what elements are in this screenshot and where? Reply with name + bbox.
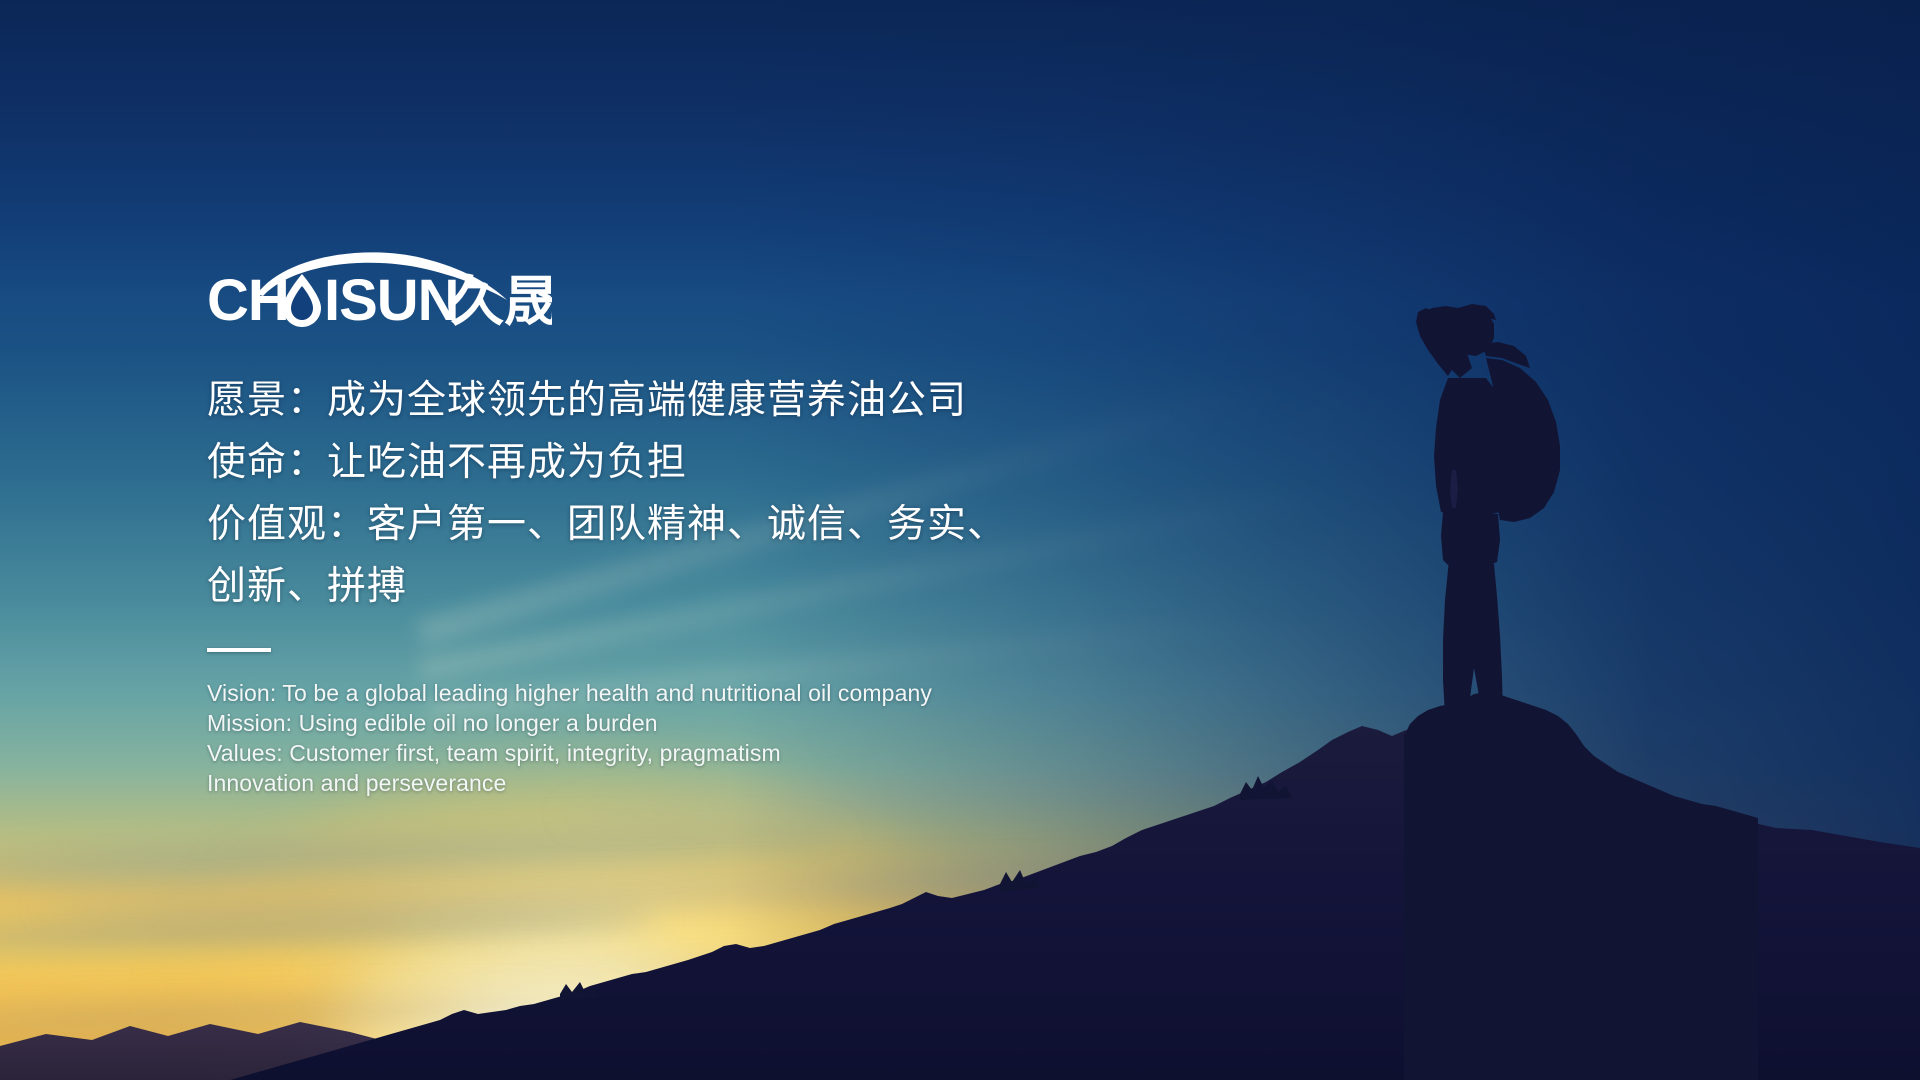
mission-line-zh: 使命：让吃油不再成为负担 [207,432,1207,494]
hiker-torso [1434,378,1506,516]
mission-line-en: Mission: Using edible oil no longer a bu… [207,708,1207,738]
hiker-hips [1441,512,1500,568]
logo-latin-prefix: CH [207,268,289,328]
values-line-en-2: Innovation and perseverance [207,768,1207,798]
vision-line-en: Vision: To be a global leading higher he… [207,678,1207,708]
values-line-zh-1: 价值观：客户第一、团队精神、诚信、务实、 [207,494,1207,556]
slide-canvas: CH ISUN 久晟 愿景：成为全球领先的高端健康营养油公司 使命：让吃油不再成… [0,0,1920,1080]
vision-line-zh: 愿景：成为全球领先的高端健康营养油公司 [207,370,1207,432]
choisun-logo[interactable]: CH ISUN 久晟 [207,248,552,328]
logo-latin-suffix: ISUN [324,268,459,328]
values-line-zh-2: 创新、拼搏 [207,556,1207,618]
logo-cjk: 久晟 [450,272,552,328]
ridge-spikes [560,982,600,1000]
section-divider [207,648,271,652]
statement-block: 愿景：成为全球领先的高端健康营养油公司 使命：让吃油不再成为负担 价值观：客户第… [207,370,1207,798]
values-line-en-1: Values: Customer first, team spirit, int… [207,738,1207,768]
